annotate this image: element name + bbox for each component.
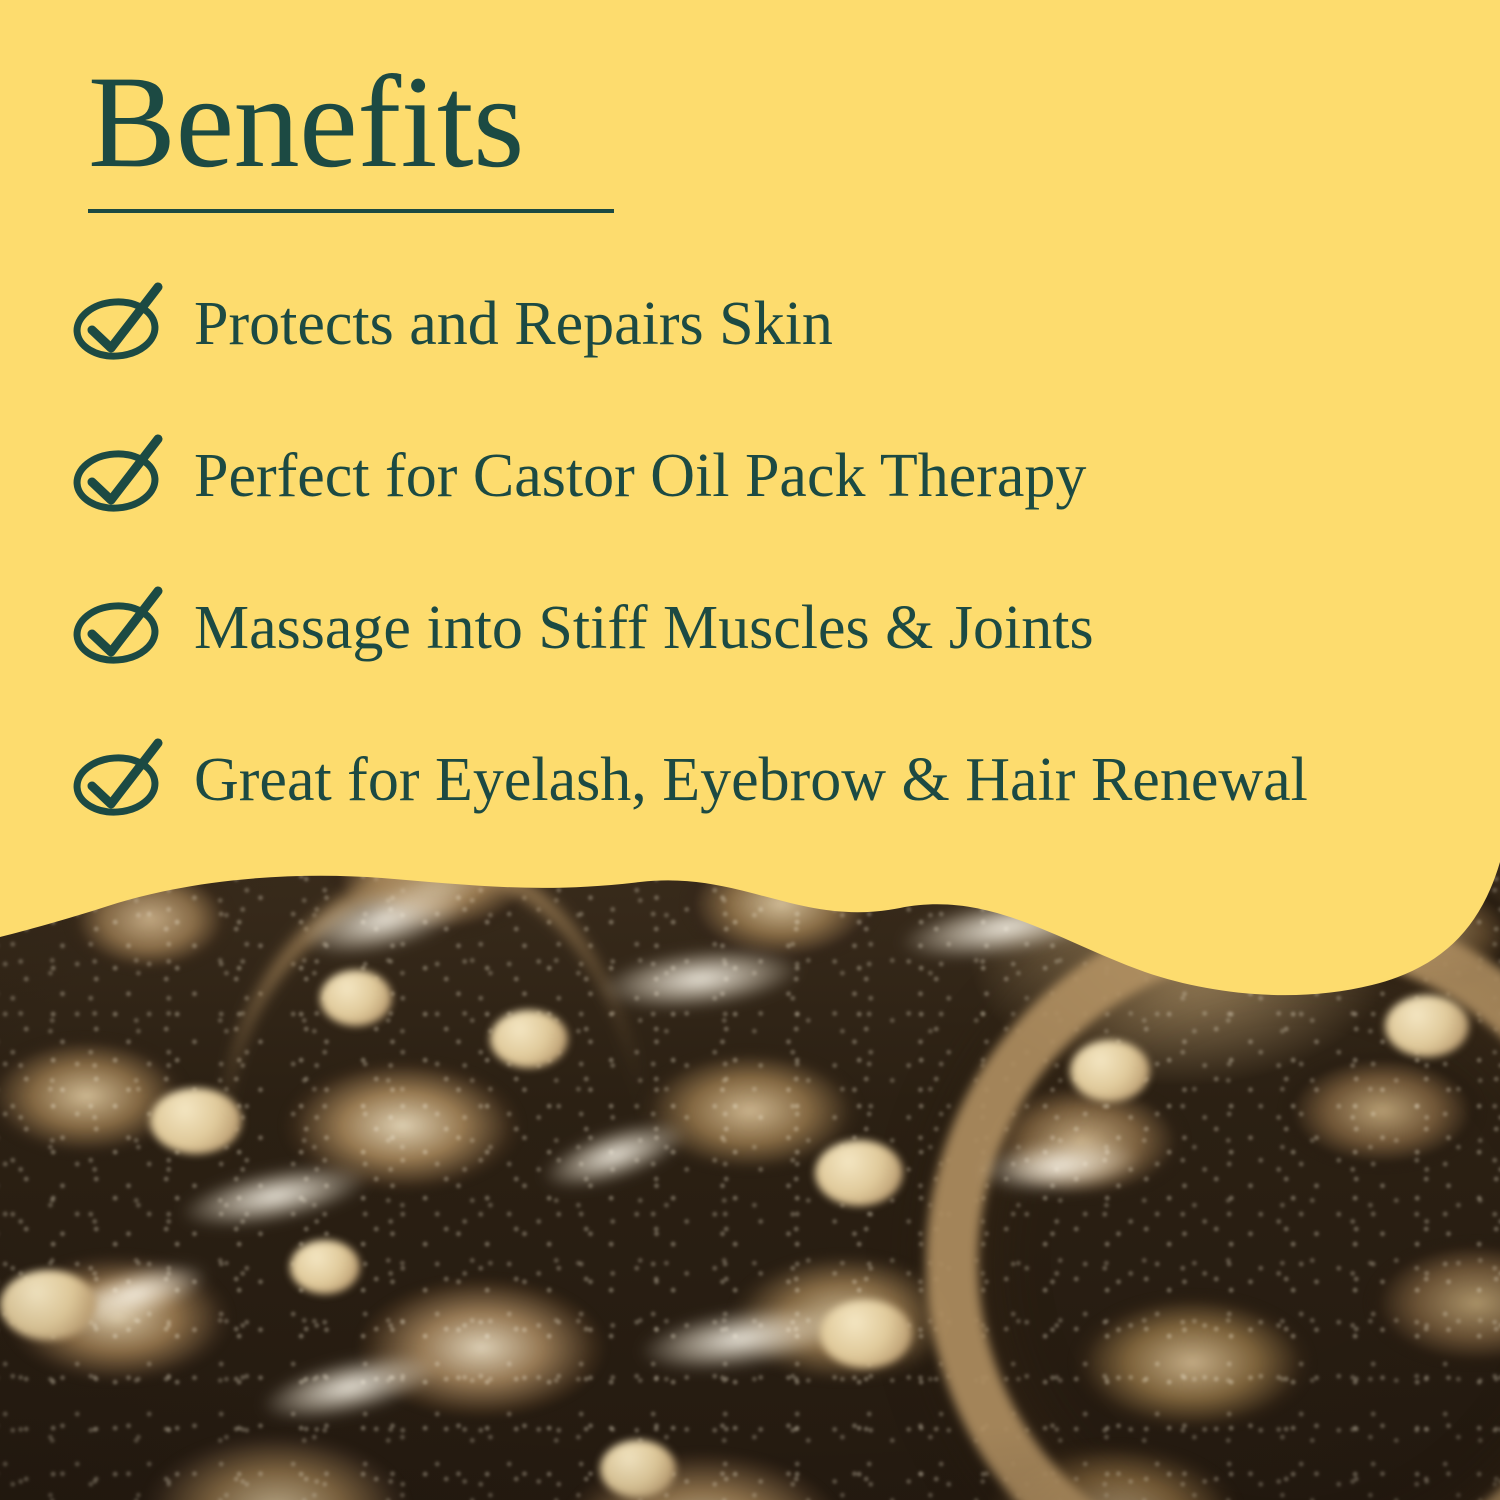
seed-caruncle	[0, 1270, 96, 1340]
page-title: Benefits	[88, 48, 524, 196]
list-item-label: Massage into Stiff Muscles & Joints	[194, 597, 1094, 659]
benefits-content: Benefits Protects and Repairs Skin	[0, 0, 1500, 900]
seed-caruncle	[820, 1300, 912, 1368]
list-item: Protects and Repairs Skin	[70, 248, 1470, 400]
seed-caruncle	[600, 1440, 676, 1498]
list-item: Great for Eyelash, Eyebrow & Hair Renewa…	[70, 704, 1470, 856]
list-item-label: Great for Eyelash, Eyebrow & Hair Renewa…	[194, 749, 1308, 811]
seed-caruncle	[290, 1240, 360, 1294]
benefits-list: Protects and Repairs Skin Perfect for Ca…	[70, 248, 1470, 856]
list-item: Massage into Stiff Muscles & Joints	[70, 552, 1470, 704]
check-circle-icon	[70, 589, 166, 667]
seed-caruncle	[150, 1088, 242, 1154]
seed-caruncle	[815, 1140, 903, 1206]
list-item-label: Perfect for Castor Oil Pack Therapy	[194, 445, 1086, 507]
title-divider	[88, 209, 614, 213]
product-benefits-infographic: Benefits Protects and Repairs Skin	[0, 0, 1500, 1500]
list-item-label: Protects and Repairs Skin	[194, 293, 833, 355]
check-circle-icon	[70, 741, 166, 819]
check-circle-icon	[70, 437, 166, 515]
check-circle-icon	[70, 285, 166, 363]
list-item: Perfect for Castor Oil Pack Therapy	[70, 400, 1470, 552]
